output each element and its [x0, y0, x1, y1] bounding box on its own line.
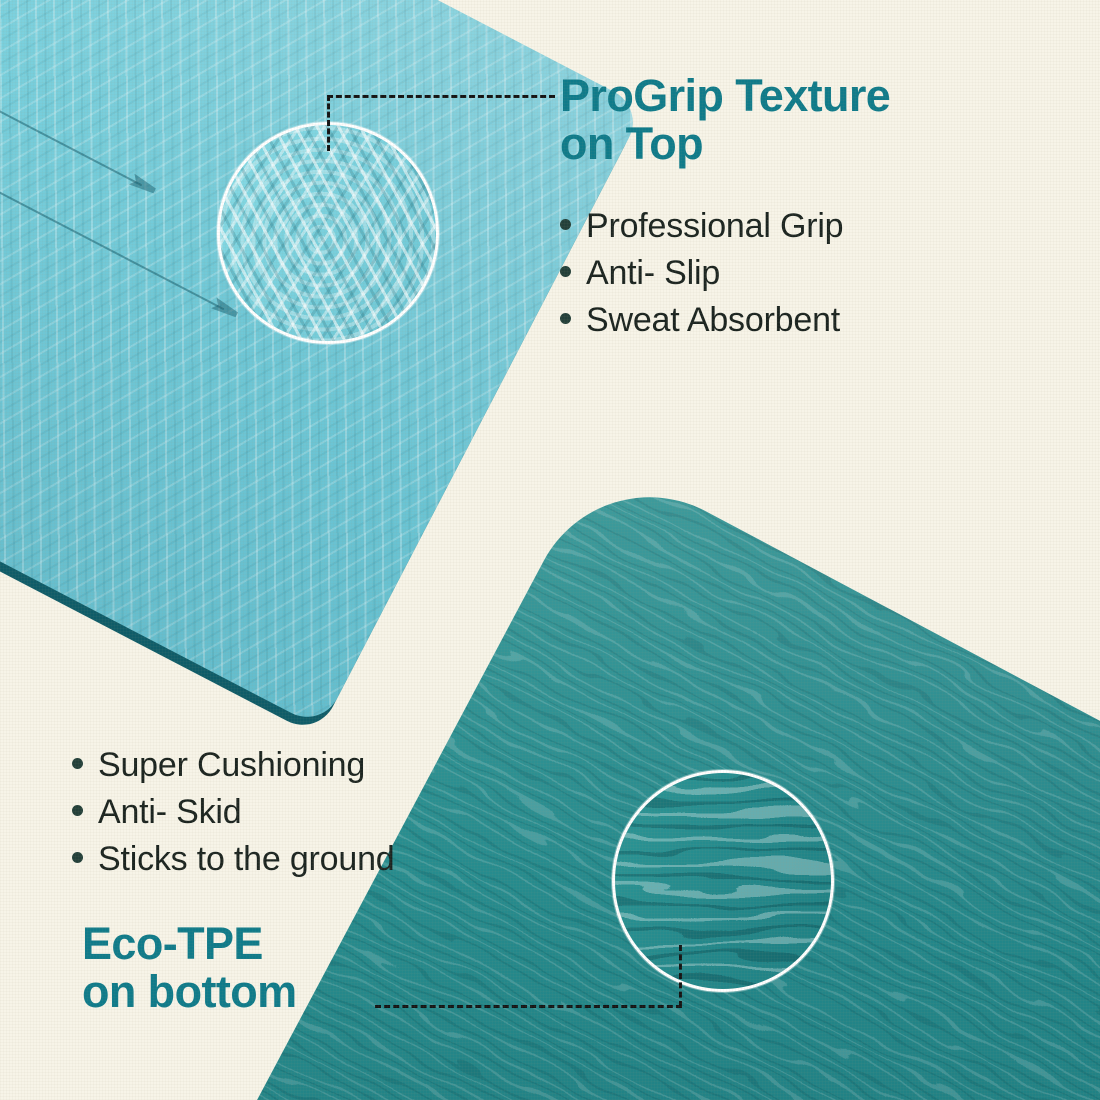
zoom-bot-texture-fill	[612, 770, 834, 992]
alignment-marker-icon-1	[129, 174, 158, 197]
leader-top-vertical-segment	[327, 95, 330, 151]
bullet-dot-icon	[560, 219, 571, 230]
bullet-dot-icon	[560, 266, 571, 277]
list-item-label: Anti- Skid	[98, 789, 242, 836]
bottom-callout-heading-line-1: Eco-TPE	[82, 920, 482, 968]
list-item-label: Sweat Absorbent	[586, 297, 840, 344]
bullet-dot-icon	[72, 758, 83, 769]
list-item: Sweat Absorbent	[560, 297, 1030, 344]
list-item-label: Anti- Slip	[586, 250, 720, 297]
zoom-circle-bottom-texture	[612, 770, 834, 992]
top-callout-heading-line-1: ProGrip Texture	[560, 72, 1030, 120]
list-item: Super Cushioning	[72, 742, 592, 789]
infographic-canvas: WISELIFE ProGrip Texture on Top Professi…	[0, 0, 1100, 1100]
zoom-top-texture-fill	[217, 122, 439, 344]
zoom-circle-top-texture	[217, 122, 439, 344]
list-item: Sticks to the ground	[72, 836, 592, 883]
bottom-callout-bullet-list: Super Cushioning Anti- Skid Sticks to th…	[72, 742, 592, 883]
list-item: Professional Grip	[560, 203, 1030, 250]
brand-wordmark: WISELIFE	[0, 300, 8, 421]
top-callout-heading-line-2: on Top	[560, 120, 1030, 168]
list-item-label: Sticks to the ground	[98, 836, 395, 883]
top-callout-heading: ProGrip Texture on Top	[560, 72, 1030, 167]
alignment-guide-line-1	[0, 46, 142, 186]
leader-bottom-vertical-segment	[679, 945, 682, 1007]
alignment-guide-line-2	[0, 110, 224, 310]
list-item-label: Super Cushioning	[98, 742, 365, 789]
bottom-callout-heading-line-2: on bottom	[82, 968, 482, 1016]
bullet-dot-icon	[72, 852, 83, 863]
list-item: Anti- Skid	[72, 789, 592, 836]
list-item-label: Professional Grip	[586, 203, 843, 250]
bullet-dot-icon	[560, 313, 571, 324]
bottom-callout-heading: Eco-TPE on bottom	[82, 920, 482, 1015]
leader-top-horizontal-segment	[327, 95, 555, 98]
bullet-dot-icon	[72, 805, 83, 816]
top-callout-bullet-list: Professional Grip Anti- Slip Sweat Absor…	[560, 203, 1030, 344]
list-item: Anti- Slip	[560, 250, 1030, 297]
